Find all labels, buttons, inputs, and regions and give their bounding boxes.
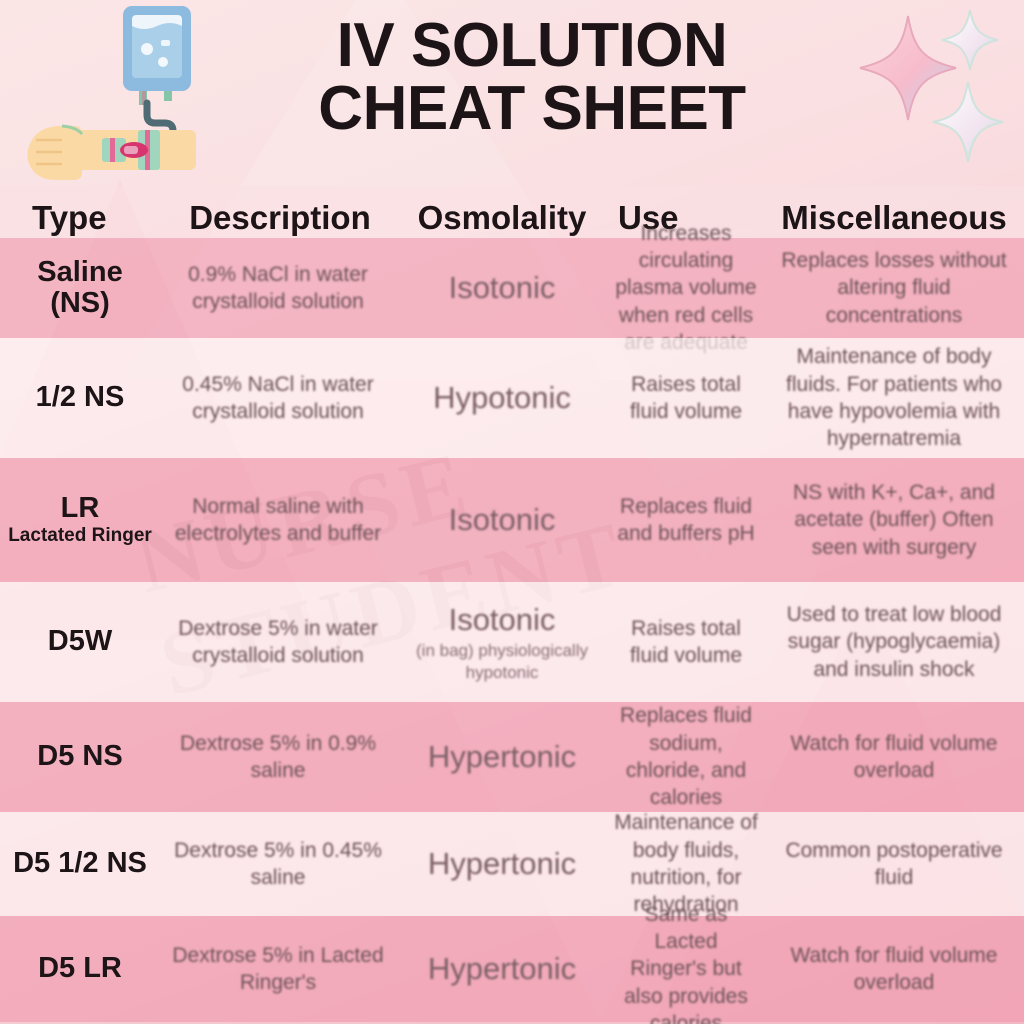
cell-type: Saline (NS) — [0, 253, 160, 324]
cell-osmolality: Hypertonic — [396, 841, 608, 886]
osmolality-text: Hypertonic — [428, 845, 576, 882]
cell-type: D5 LR — [0, 949, 160, 988]
solution-name: LR — [61, 493, 100, 524]
title-line-2: CHEAT SHEET — [232, 77, 832, 140]
solution-name: D5 LR — [38, 953, 122, 984]
infographic-page: NURSE STUDENT — [0, 0, 1024, 1024]
description-text: Normal saline with electrolytes and buff… — [166, 493, 390, 548]
miscellaneous-text: Watch for fluid volume overload — [770, 942, 1018, 997]
table-row: Saline (NS)0.9% NaCl in water crystalloi… — [0, 238, 1024, 338]
miscellaneous-text: Watch for fluid volume overload — [770, 730, 1018, 785]
sparkle-star-icon — [858, 2, 1018, 170]
table-body: Saline (NS)0.9% NaCl in water crystalloi… — [0, 238, 1024, 1022]
column-header-type: Type — [0, 201, 160, 234]
cell-osmolality: Isotonic — [396, 497, 608, 542]
solution-name: D5 NS — [37, 741, 122, 772]
osmolality-note: (in bag) physiologically hypotonic — [402, 640, 602, 683]
cell-use: Replaces fluid and buffers pH — [608, 489, 764, 552]
description-text: Dextrose 5% in water crystalloid solutio… — [166, 615, 390, 670]
solution-subname: Lactated Ringer — [8, 525, 152, 547]
cell-type: LRLactated Ringer — [0, 489, 160, 550]
cell-use: Replaces fluid sodium, chloride, and cal… — [608, 698, 764, 815]
solution-name: D5 1/2 NS — [13, 848, 147, 879]
osmolality-text: Hypotonic — [433, 379, 571, 416]
osmolality-text: Hypertonic — [428, 950, 576, 987]
iv-solution-table: Type Description Osmolality Use Miscella… — [0, 186, 1024, 1022]
use-text: Replaces fluid sodium, chloride, and cal… — [614, 702, 758, 811]
osmolality-text: Hypertonic — [428, 738, 576, 775]
miscellaneous-text: Used to treat low blood sugar (hypoglyca… — [770, 601, 1018, 683]
cell-type: 1/2 NS — [0, 378, 160, 417]
cell-osmolality: Isotonic(in bag) physiologically hypoton… — [396, 597, 608, 687]
description-text: Dextrose 5% in Lacted Ringer's — [166, 942, 390, 997]
cell-miscellaneous: Watch for fluid volume overload — [764, 938, 1024, 1001]
iv-drip-bag-icon — [6, 2, 230, 186]
cell-description: 0.45% NaCl in water crystalloid solution — [160, 367, 396, 430]
table-row: D5 LRDextrose 5% in Lacted Ringer'sHyper… — [0, 916, 1024, 1022]
column-header-miscellaneous: Miscellaneous — [764, 201, 1024, 234]
cell-description: Dextrose 5% in 0.45% saline — [160, 833, 396, 896]
description-text: 0.9% NaCl in water crystalloid solution — [166, 261, 390, 316]
use-text: Replaces fluid and buffers pH — [614, 493, 758, 548]
osmolality-text: Isotonic — [449, 501, 556, 538]
header: IV SOLUTION CHEAT SHEET — [0, 0, 1024, 186]
cell-miscellaneous: Used to treat low blood sugar (hypoglyca… — [764, 597, 1024, 687]
title-line-1: IV SOLUTION — [232, 14, 832, 77]
osmolality-text: Isotonic — [449, 269, 556, 306]
miscellaneous-text: Common postoperative fluid — [770, 837, 1018, 892]
cell-miscellaneous: Watch for fluid volume overload — [764, 726, 1024, 789]
solution-name: 1/2 NS — [36, 382, 125, 413]
miscellaneous-text: NS with K+, Ca+, and acetate (buffer) Of… — [770, 479, 1018, 561]
cell-description: Normal saline with electrolytes and buff… — [160, 489, 396, 552]
cell-osmolality: Hypertonic — [396, 946, 608, 991]
table-row: LRLactated RingerNormal saline with elec… — [0, 458, 1024, 582]
description-text: 0.45% NaCl in water crystalloid solution — [166, 371, 390, 426]
cell-miscellaneous: Replaces losses without altering fluid c… — [764, 243, 1024, 333]
table-row: D5 NSDextrose 5% in 0.9% salineHypertoni… — [0, 702, 1024, 812]
cell-type: D5 NS — [0, 737, 160, 776]
description-text: Dextrose 5% in 0.45% saline — [166, 837, 390, 892]
use-text: Increases circulating plasma volume when… — [614, 220, 758, 356]
cell-use: Raises total fluid volume — [608, 611, 764, 674]
column-header-description: Description — [160, 201, 396, 234]
cell-type: D5W — [0, 622, 160, 661]
osmolality-text: Isotonic — [449, 601, 556, 638]
page-title: IV SOLUTION CHEAT SHEET — [232, 14, 832, 140]
cell-osmolality: Hypertonic — [396, 734, 608, 779]
cell-description: Dextrose 5% in 0.9% saline — [160, 726, 396, 789]
description-text: Dextrose 5% in 0.9% saline — [166, 730, 390, 785]
cell-miscellaneous: Common postoperative fluid — [764, 833, 1024, 896]
cell-type: D5 1/2 NS — [0, 844, 160, 883]
table-row: D5WDextrose 5% in water crystalloid solu… — [0, 582, 1024, 702]
cell-description: 0.9% NaCl in water crystalloid solution — [160, 257, 396, 320]
cell-description: Dextrose 5% in water crystalloid solutio… — [160, 611, 396, 674]
cell-miscellaneous: Maintenance of body fluids. For patients… — [764, 339, 1024, 456]
cell-use: Raises total fluid volume — [608, 367, 764, 430]
cell-osmolality: Hypotonic — [396, 375, 608, 420]
cell-miscellaneous: NS with K+, Ca+, and acetate (buffer) Of… — [764, 475, 1024, 565]
cell-osmolality: Isotonic — [396, 265, 608, 310]
solution-name: D5W — [48, 626, 112, 657]
use-text: Same as Lacted Ringer's but also provide… — [614, 901, 758, 1024]
solution-name: Saline (NS) — [6, 257, 154, 320]
table-header-row: Type Description Osmolality Use Miscella… — [0, 186, 1024, 238]
table-row: D5 1/2 NSDextrose 5% in 0.45% salineHype… — [0, 812, 1024, 916]
cell-description: Dextrose 5% in Lacted Ringer's — [160, 938, 396, 1001]
miscellaneous-text: Replaces losses without altering fluid c… — [770, 247, 1018, 329]
cell-use: Same as Lacted Ringer's but also provide… — [608, 897, 764, 1024]
column-header-osmolality: Osmolality — [396, 201, 608, 234]
miscellaneous-text: Maintenance of body fluids. For patients… — [770, 343, 1018, 452]
use-text: Raises total fluid volume — [614, 615, 758, 670]
table-row: 1/2 NS0.45% NaCl in water crystalloid so… — [0, 338, 1024, 458]
use-text: Raises total fluid volume — [614, 371, 758, 426]
